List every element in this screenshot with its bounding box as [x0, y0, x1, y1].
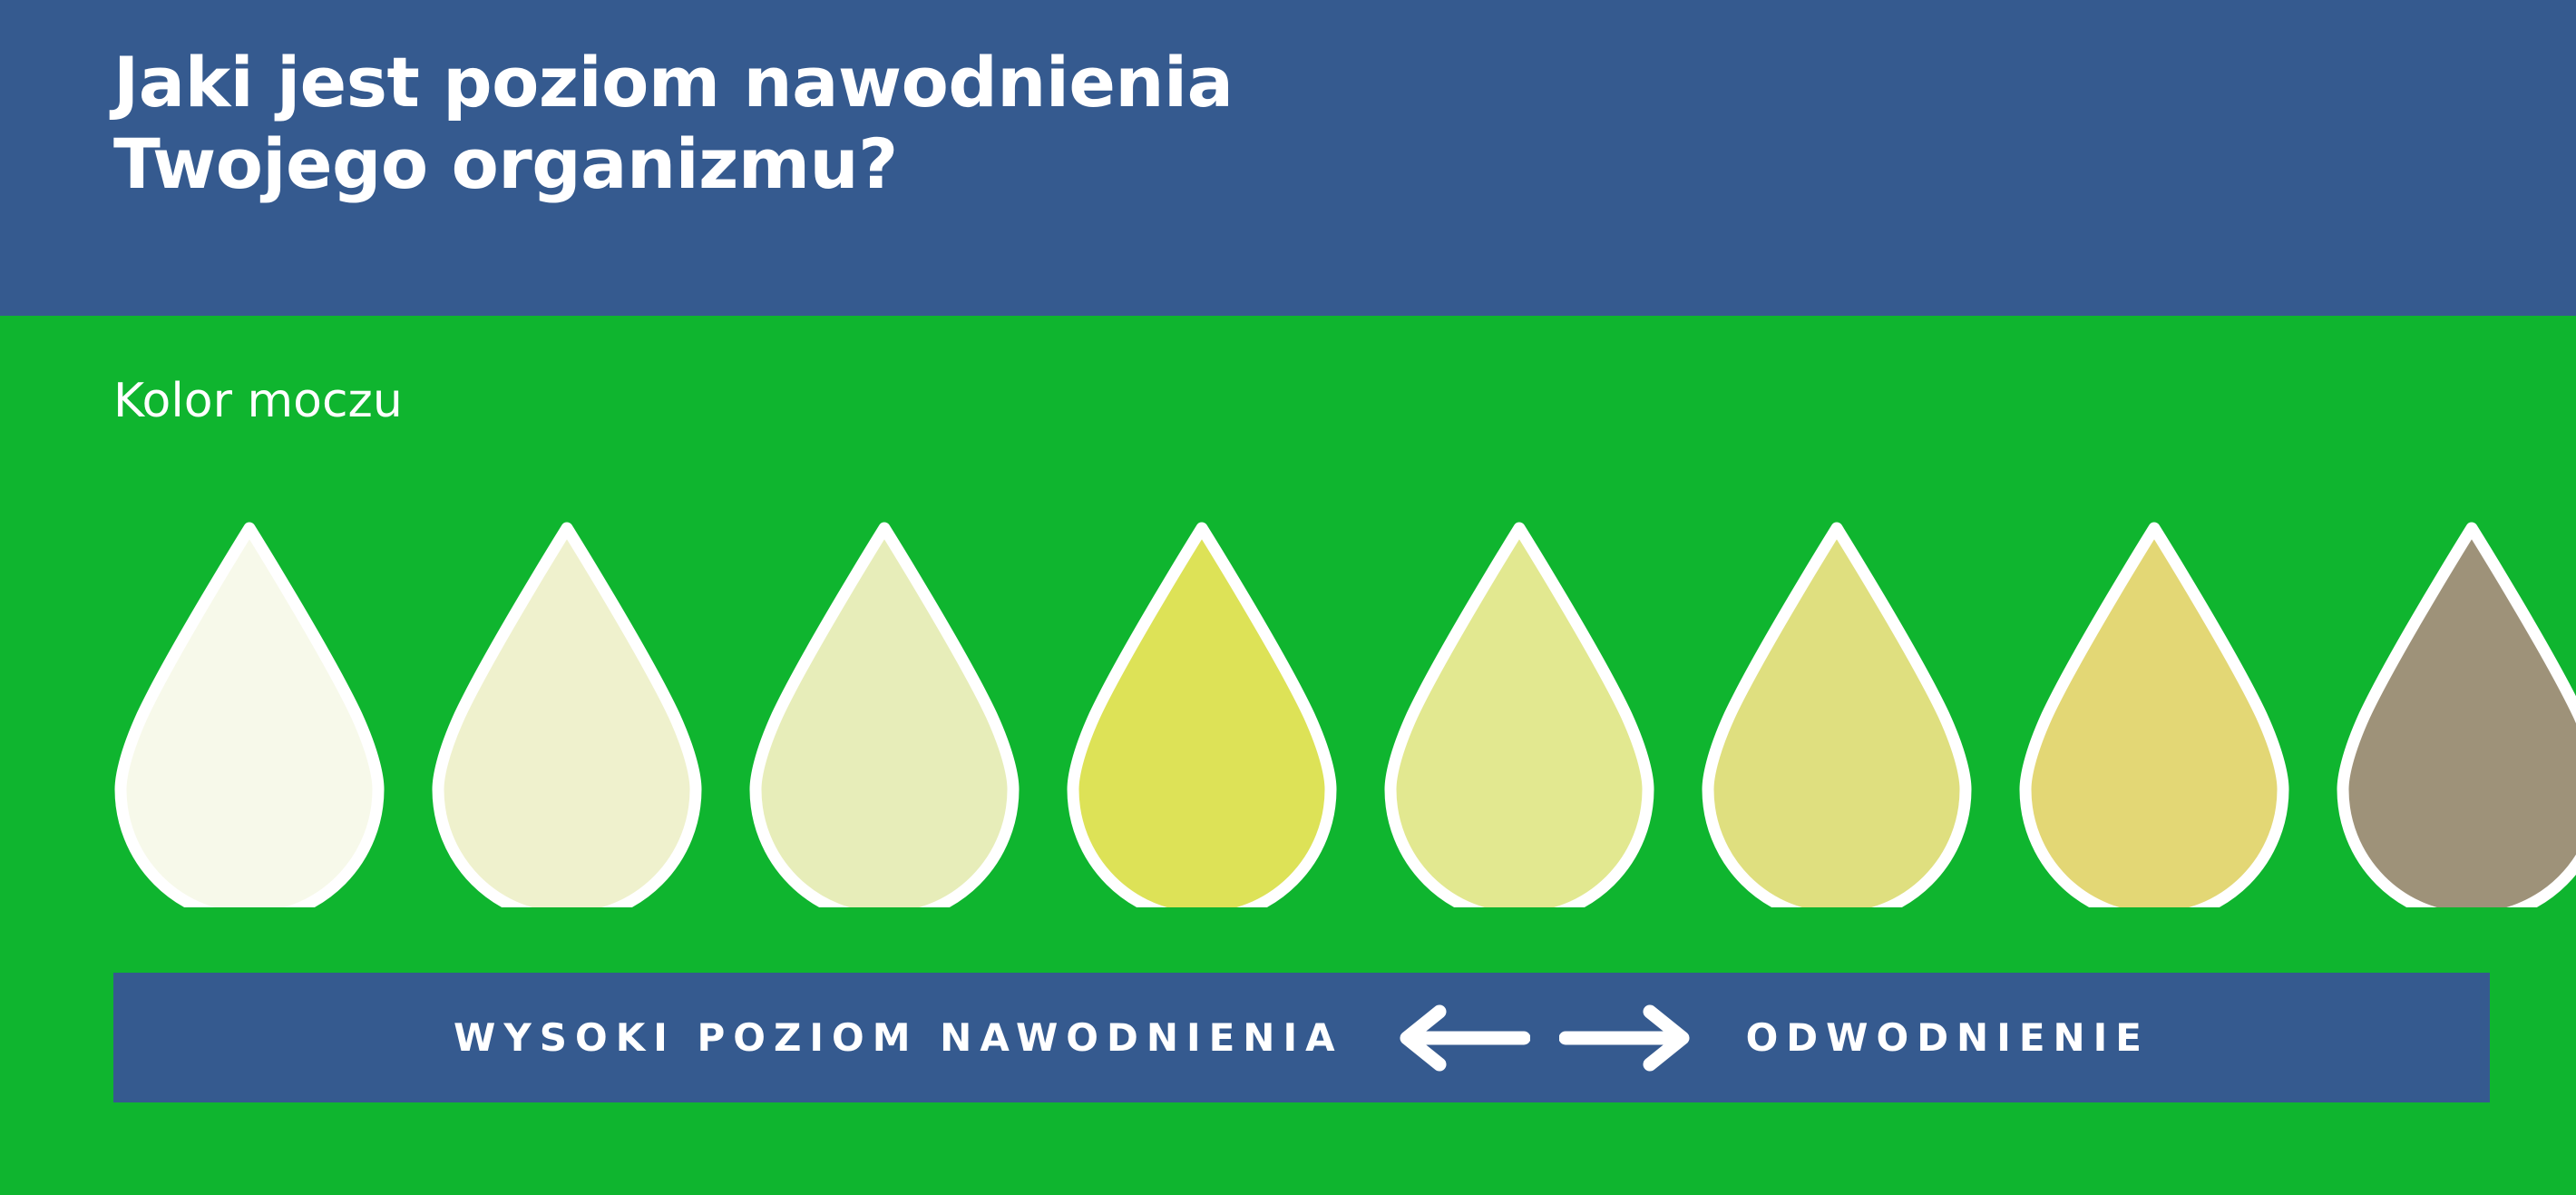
droplet-2[interactable]: [431, 517, 703, 907]
droplet-shape-icon: [1701, 517, 1973, 907]
hydration-infographic: Jaki jest poziom nawodnienia Twojego org…: [0, 0, 2576, 1195]
droplet-body: [756, 528, 1013, 907]
arrow-right-icon: [1559, 1003, 1695, 1073]
droplet-7[interactable]: [2018, 517, 2290, 907]
droplet-shape-icon: [113, 517, 385, 907]
urine-color-scale: [113, 517, 2494, 907]
droplet-5[interactable]: [1383, 517, 1655, 907]
droplet-body: [438, 528, 696, 907]
arrow-pair: [1394, 1003, 1695, 1073]
droplet-body: [1708, 528, 1966, 907]
subtitle-kolor-moczu: Kolor moczu: [113, 376, 403, 427]
droplet-body: [2025, 528, 2283, 907]
page-title: Jaki jest poziom nawodnienia Twojego org…: [113, 42, 1927, 204]
legend-inner: WYSOKI POZIOM NAWODNIENIA ODWODNIENIE: [454, 1003, 2150, 1073]
legend-label-dehydrated: ODWODNIENIE: [1746, 1015, 2150, 1060]
droplet-shape-icon: [2336, 517, 2576, 907]
droplet-body: [1390, 528, 1648, 907]
droplet-3[interactable]: [748, 517, 1020, 907]
droplet-8[interactable]: [2336, 517, 2576, 907]
droplet-shape-icon: [431, 517, 703, 907]
legend-label-hydrated: WYSOKI POZIOM NAWODNIENIA: [454, 1015, 1343, 1060]
header-band: Jaki jest poziom nawodnienia Twojego org…: [0, 0, 2576, 316]
droplet-body: [1073, 528, 1331, 907]
droplet-shape-icon: [748, 517, 1020, 907]
droplet-shape-icon: [2018, 517, 2290, 907]
droplet-body: [121, 528, 378, 907]
droplet-4[interactable]: [1066, 517, 1338, 907]
legend-bar: WYSOKI POZIOM NAWODNIENIA ODWODNIENIE: [113, 973, 2490, 1102]
droplet-shape-icon: [1066, 517, 1338, 907]
droplet-shape-icon: [1383, 517, 1655, 907]
droplet-body: [2343, 528, 2576, 907]
arrow-left-icon: [1394, 1003, 1530, 1073]
droplet-1[interactable]: [113, 517, 385, 907]
droplet-6[interactable]: [1701, 517, 1973, 907]
